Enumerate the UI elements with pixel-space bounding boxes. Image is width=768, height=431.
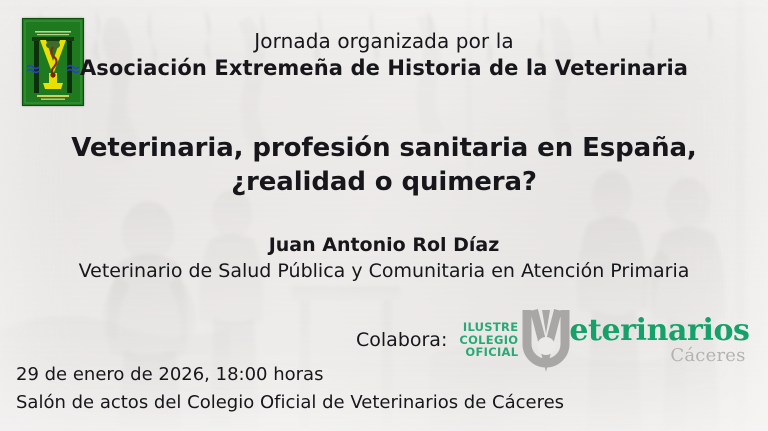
page-title-line2: ¿realidad o quimera?	[0, 168, 768, 197]
wordmark-city: Cáceres	[670, 347, 745, 365]
colegio-logo-line1: ILUSTRE	[463, 321, 518, 333]
speaker-name: Juan Antonio Rol Díaz	[0, 235, 768, 256]
event-datetime: 29 de enero de 2026, 18:00 horas	[16, 364, 323, 385]
event-poster: Jornada organizada por la Asociación Ext…	[0, 0, 768, 431]
organization-name: Asociación Extremeña de Historia de la V…	[0, 57, 768, 81]
collaboration-label: Colabora:	[356, 329, 447, 351]
collaboration-section: Colabora: ILUSTRE COLEGIO OFICIAL eterin…	[356, 304, 750, 376]
page-title-line1: Veterinaria, profesión sanitaria en Espa…	[0, 134, 768, 163]
event-venue: Salón de actos del Colegio Oficial de Ve…	[16, 392, 564, 413]
wordmark-veterinarios: eterinarios	[569, 316, 749, 346]
colegio-logo-wordmark: eterinarios Cáceres	[569, 316, 749, 365]
colegio-logo-line3: OFICIAL	[465, 346, 518, 358]
colegio-veterinarios-caceres-logo: ILUSTRE COLEGIO OFICIAL eterinarios Cáce…	[459, 304, 749, 376]
speaker-role: Veterinario de Salud Pública y Comunitar…	[0, 261, 768, 282]
v-monogram-icon	[517, 304, 575, 376]
organized-by-label: Jornada organizada por la	[0, 30, 768, 52]
colegio-logo-stacked-text: ILUSTRE COLEGIO OFICIAL	[459, 321, 518, 358]
